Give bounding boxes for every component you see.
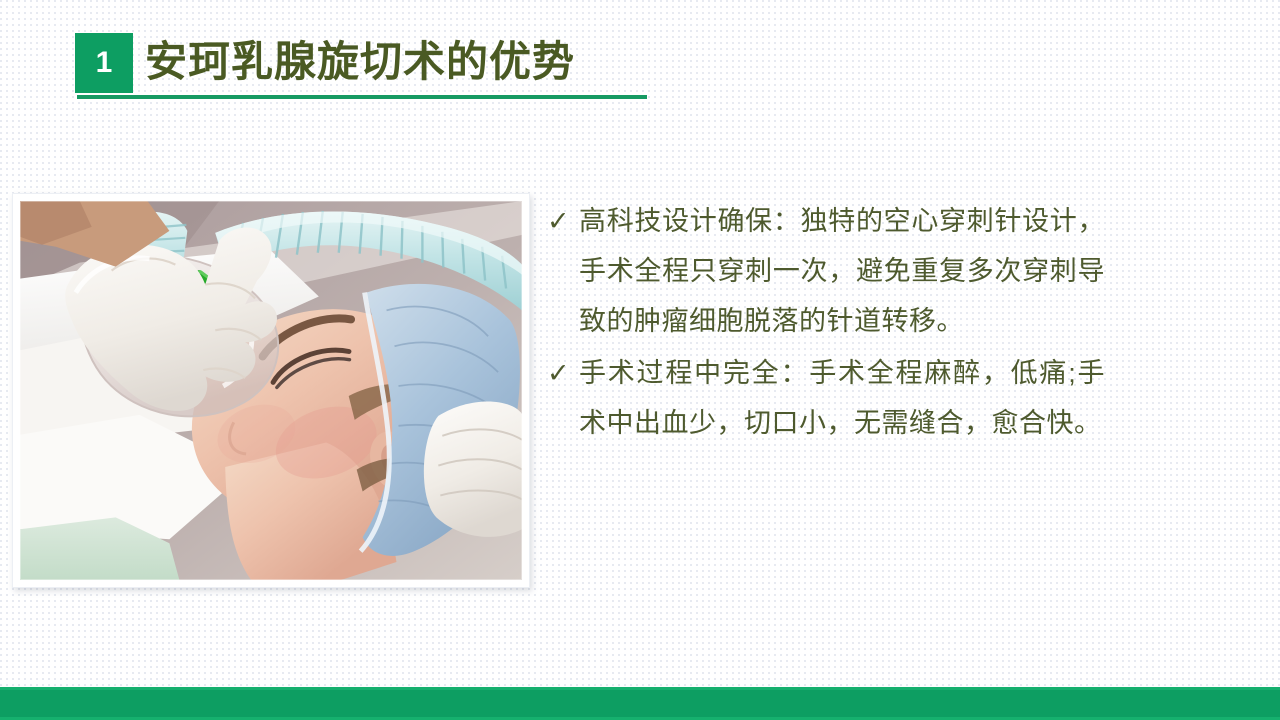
checkmark-icon: ✓ — [547, 348, 570, 398]
list-item: ✓ 高科技设计确保：独特的空心穿刺针设计，手术全程只穿刺一次，避免重复多次穿刺导… — [545, 196, 1105, 346]
checkmark-icon: ✓ — [547, 196, 570, 246]
bullet-list: ✓ 高科技设计确保：独特的空心穿刺针设计，手术全程只穿刺一次，避免重复多次穿刺导… — [545, 196, 1105, 450]
slide-canvas: 1 安珂乳腺旋切术的优势 — [0, 0, 1280, 720]
anesthesia-photo-illustration — [20, 201, 522, 580]
section-number-badge: 1 — [75, 33, 133, 93]
anesthesia-photo — [20, 201, 522, 580]
page-title: 安珂乳腺旋切术的优势 — [145, 31, 575, 93]
footer-bar — [0, 687, 1280, 720]
photo-frame — [12, 193, 530, 588]
title-underline-rule — [77, 95, 647, 99]
list-item: ✓ 手术过程中完全：手术全程麻醉，低痛;手术中出血少，切口小，无需缝合，愈合快。 — [545, 348, 1105, 448]
list-item-text: 高科技设计确保：独特的空心穿刺针设计，手术全程只穿刺一次，避免重复多次穿刺导致的… — [579, 196, 1105, 346]
list-item-text: 手术过程中完全：手术全程麻醉，低痛;手术中出血少，切口小，无需缝合，愈合快。 — [579, 348, 1105, 448]
section-number-label: 1 — [96, 48, 113, 78]
slide-header: 1 安珂乳腺旋切术的优势 — [75, 33, 655, 99]
